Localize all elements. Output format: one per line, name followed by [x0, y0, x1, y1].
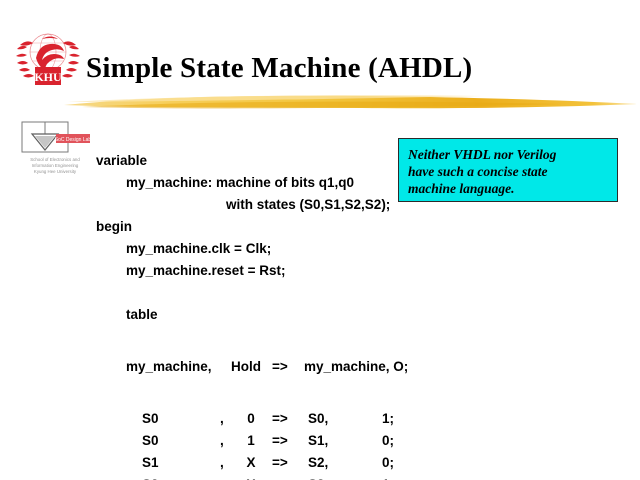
- code-line-7: table: [96, 304, 396, 326]
- callout-line-2: have such a concise state: [408, 163, 617, 180]
- row-current-state: S1: [142, 452, 182, 474]
- code-line-1: my_machine: machine of bits q1,q0: [96, 172, 396, 194]
- table-header-col3: my_machine, O;: [304, 356, 408, 378]
- table-row: S1,X=>S2,0;: [96, 452, 396, 474]
- code-line-0: variable: [96, 150, 396, 172]
- row-output: 1;: [382, 408, 394, 430]
- watermark-caption-line3: Kyung Hee University: [34, 169, 77, 174]
- row-comma: ,: [220, 408, 224, 430]
- code-line-3: begin: [96, 216, 396, 238]
- row-next-state: S0,: [308, 408, 348, 430]
- row-current-state: S2: [142, 474, 182, 480]
- watermark-badge-text: SoC Design Lab: [55, 137, 92, 143]
- row-output: 0;: [382, 430, 394, 452]
- code-blank-line: [96, 282, 396, 304]
- row-output: 1;: [382, 474, 394, 480]
- callout-line-3: machine language.: [408, 180, 617, 197]
- title-underline-brushstroke: [62, 92, 640, 114]
- row-output: 0;: [382, 452, 394, 474]
- department-watermark-icon: SoC Design Lab School of Electronics and…: [16, 120, 94, 178]
- code-head-lines: variablemy_machine: machine of bits q1,q…: [96, 150, 396, 326]
- slide-canvas: KHU Simple State Machine (AHDL): [0, 0, 640, 480]
- row-arrow: =>: [272, 474, 288, 480]
- callout-note: Neither VHDL nor Verilog have such a con…: [398, 138, 618, 202]
- code-line-4: my_machine.clk = Clk;: [96, 238, 396, 260]
- row-next-state: S2,: [308, 452, 348, 474]
- table-row: S0,1=>S1,0;: [96, 430, 396, 452]
- row-input: 1: [244, 430, 258, 452]
- khu-logo-text: KHU: [34, 70, 62, 84]
- row-input: X: [244, 474, 258, 480]
- khu-logo-icon: KHU: [14, 27, 82, 89]
- truth-table-header-row: my_machine, Hold => my_machine, O;: [96, 356, 396, 378]
- row-comma: ,: [220, 430, 224, 452]
- page-title: Simple State Machine (AHDL): [86, 51, 472, 85]
- row-current-state: S0: [142, 430, 182, 452]
- code-line-5: my_machine.reset = Rst;: [96, 260, 396, 282]
- callout-line-1: Neither VHDL nor Verilog: [408, 146, 617, 163]
- row-next-state: S1,: [308, 430, 348, 452]
- ahdl-code-block: variablemy_machine: machine of bits q1,q…: [96, 120, 396, 480]
- row-current-state: S0: [142, 408, 182, 430]
- table-row: S2,X=>S3,1;: [96, 474, 396, 480]
- table-header-arrow: =>: [272, 356, 288, 378]
- row-input: 0: [244, 408, 258, 430]
- watermark-caption-line2: Information Engineering: [32, 163, 79, 168]
- row-comma: ,: [220, 474, 224, 480]
- row-arrow: =>: [272, 408, 288, 430]
- row-arrow: =>: [272, 430, 288, 452]
- watermark-caption-line1: School of Electronics and: [30, 157, 80, 162]
- code-line-2: with states (S0,S1,S2,S2);: [96, 194, 396, 216]
- row-input: X: [244, 452, 258, 474]
- table-row: S0,0=>S0,1;: [96, 408, 396, 430]
- truth-table-rows: S0,0=>S0,1;S0,1=>S1,0;S1,X=>S2,0;S2,X=>S…: [96, 408, 396, 480]
- table-header-col2: Hold: [231, 356, 261, 378]
- row-arrow: =>: [272, 452, 288, 474]
- row-next-state: S3,: [308, 474, 348, 480]
- row-comma: ,: [220, 452, 224, 474]
- table-header-col1: my_machine,: [126, 356, 212, 378]
